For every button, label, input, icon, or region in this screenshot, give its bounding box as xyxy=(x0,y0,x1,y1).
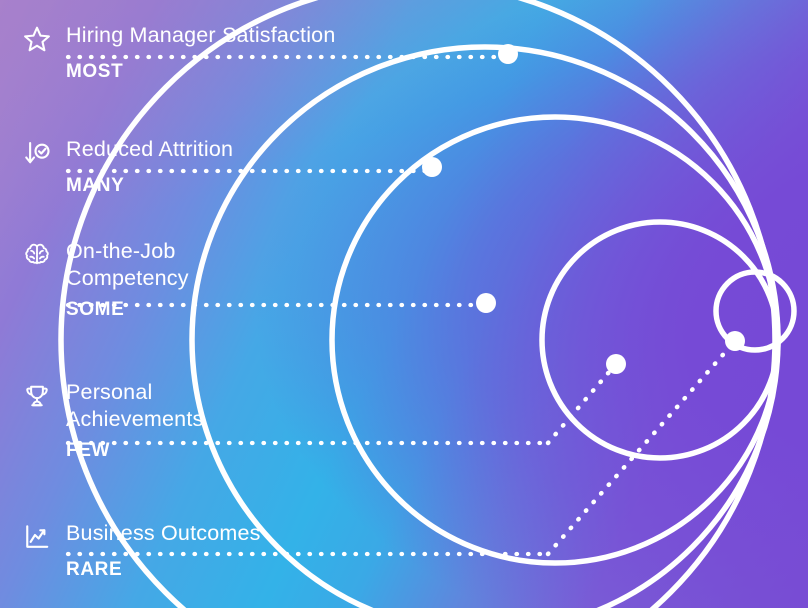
brain-icon xyxy=(22,240,52,270)
legend-rank: FEW xyxy=(66,440,203,462)
legend-title: Hiring Manager Satisfaction xyxy=(66,22,336,49)
legend-title: Reduced Attrition xyxy=(66,136,233,163)
legend-rank: MOST xyxy=(66,61,336,83)
label-column: Hiring Manager Satisfaction MOST Reduced… xyxy=(0,0,808,608)
legend-rank: MANY xyxy=(66,175,233,197)
legend-rank: RARE xyxy=(66,559,261,581)
legend-row-personal-achievements[interactable]: Personal Achievements FEW xyxy=(22,379,203,462)
legend-row-on-the-job-competency[interactable]: On-the-Job Competency SOME xyxy=(22,238,189,321)
legend-rank: SOME xyxy=(66,299,189,321)
trophy-icon xyxy=(22,381,52,411)
line-chart-icon xyxy=(22,522,52,552)
legend-title: Personal Achievements xyxy=(66,379,203,433)
arrow-down-person-icon xyxy=(22,138,52,168)
star-icon xyxy=(22,24,52,54)
legend-row-reduced-attrition[interactable]: Reduced Attrition MANY xyxy=(22,136,233,197)
legend-title: Business Outcomes xyxy=(66,520,261,547)
infographic-canvas: Hiring Manager Satisfaction MOST Reduced… xyxy=(0,0,808,608)
legend-row-hiring-manager-satisfaction[interactable]: Hiring Manager Satisfaction MOST xyxy=(22,22,336,83)
legend-row-business-outcomes[interactable]: Business Outcomes RARE xyxy=(22,520,261,581)
legend-title: On-the-Job Competency xyxy=(66,238,189,292)
